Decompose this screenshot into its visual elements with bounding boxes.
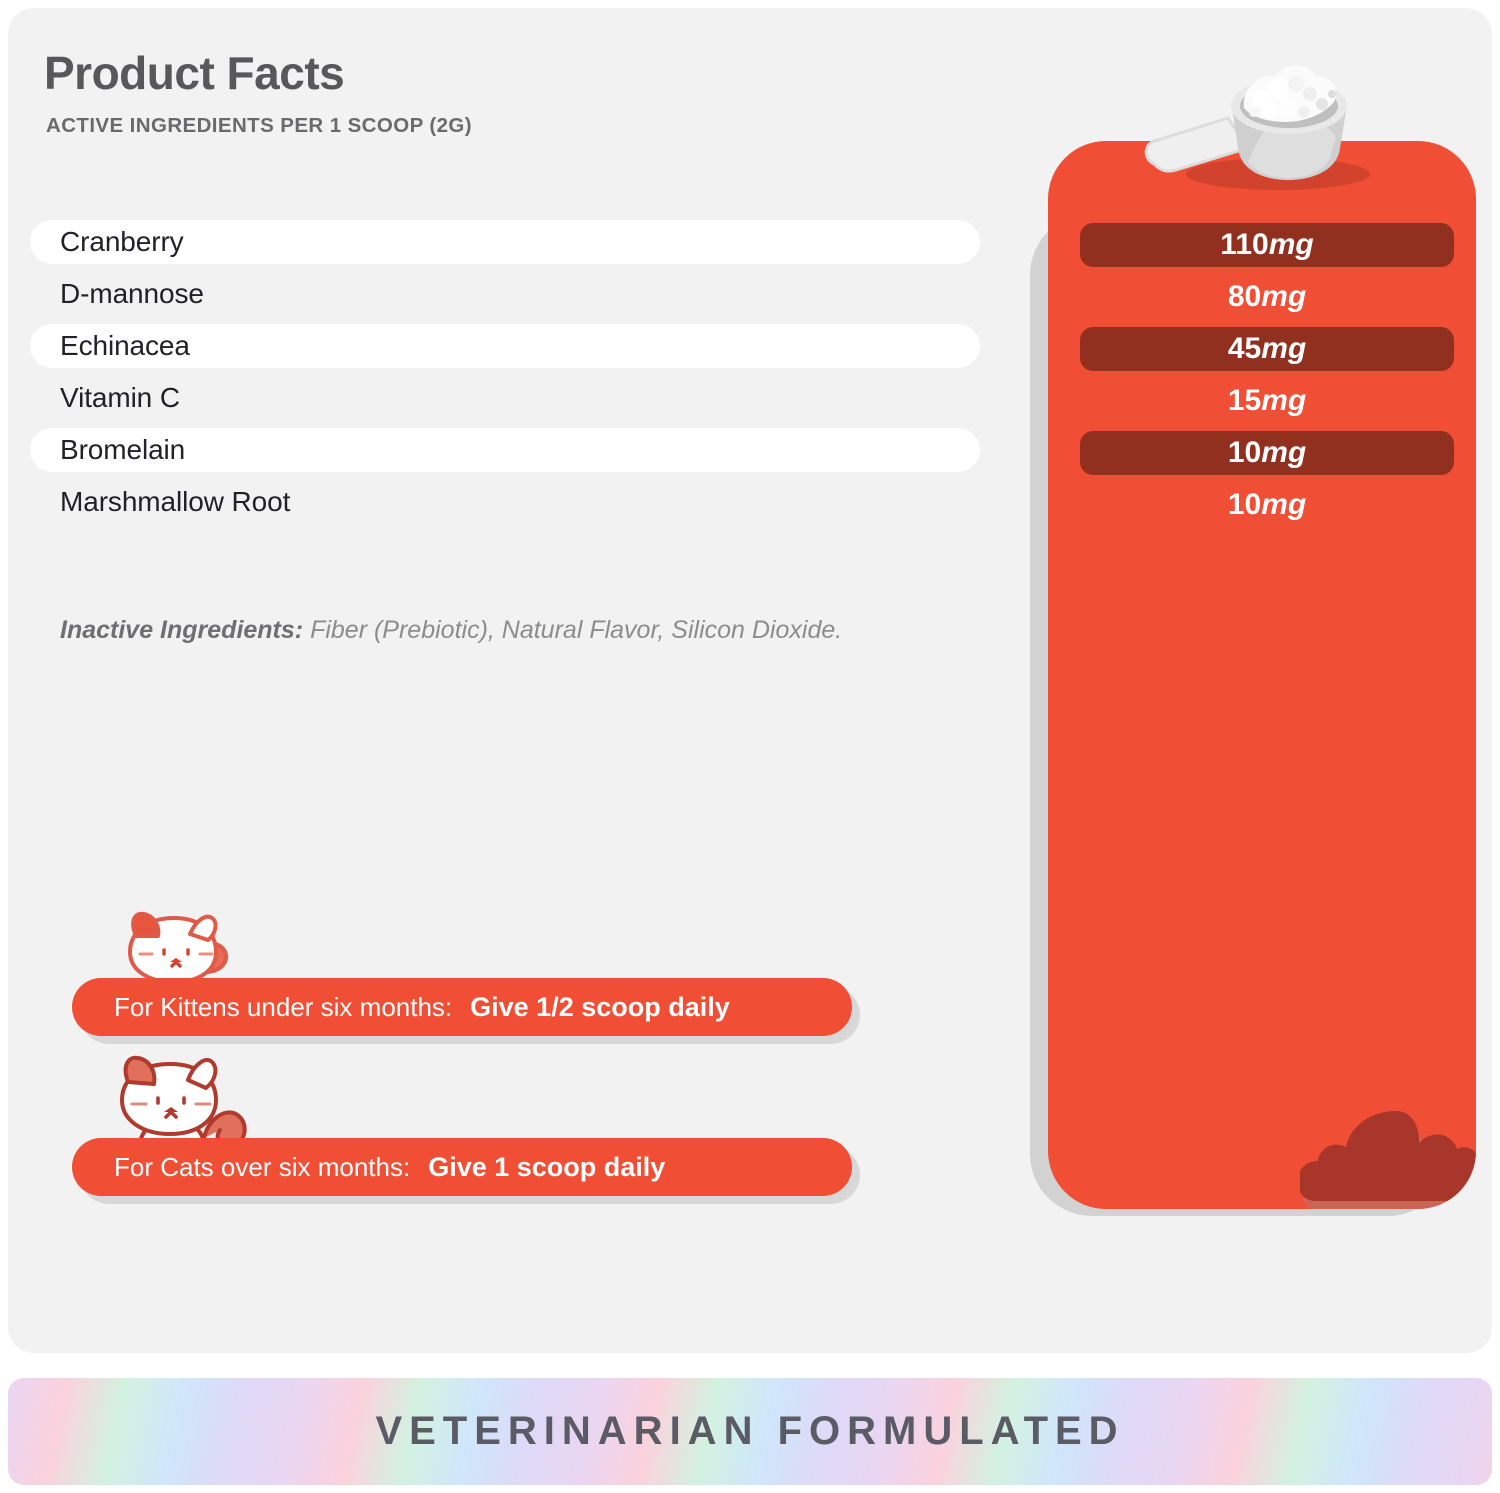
ingredient-name: Cranberry (60, 226, 184, 258)
inactive-ingredients-text: Fiber (Prebiotic), Natural Flavor, Silic… (303, 616, 842, 644)
dosage-unit: mg (1261, 280, 1306, 314)
dosage-unit: mg (1261, 384, 1306, 418)
ingredient-name: Echinacea (60, 330, 190, 362)
dosage-row: 80mg (1080, 275, 1454, 319)
footer-banner: VETERINARIAN FORMULATED (8, 1378, 1492, 1485)
ingredient-list: Cranberry D-mannose Echinacea Vitamin C … (30, 220, 980, 532)
page-subtitle: ACTIVE INGREDIENTS PER 1 SCOOP (2G) (46, 114, 472, 138)
ingredient-name: Vitamin C (60, 382, 180, 414)
list-item: Bromelain (30, 428, 980, 472)
inactive-ingredients: Inactive Ingredients: Fiber (Prebiotic),… (60, 616, 842, 645)
cat-dose-label: For Cats over six months: (114, 1152, 410, 1183)
dosage-amount: 45 (1228, 332, 1261, 366)
ingredient-name: Bromelain (60, 434, 185, 466)
kitten-dose-pill: For Kittens under six months: Give 1/2 s… (72, 978, 852, 1036)
kitten-dose-label: For Kittens under six months: (114, 992, 452, 1023)
bush-icon (1300, 1105, 1476, 1209)
dosage-amount: 110 (1220, 228, 1268, 262)
dosage-row: 110mg (1080, 223, 1454, 267)
dosage-row: 45mg (1080, 327, 1454, 371)
cat-dose-instruction: Give 1 scoop daily (428, 1152, 665, 1183)
dosage-list: 110mg 80mg 45mg 15mg 10mg 10mg (1080, 223, 1454, 535)
dosage-panel: 110mg 80mg 45mg 15mg 10mg 10mg (1048, 141, 1476, 1209)
inactive-ingredients-label: Inactive Ingredients: (60, 616, 303, 644)
dosage-row: 15mg (1080, 379, 1454, 423)
ingredient-name: Marshmallow Root (60, 486, 290, 518)
kitten-dose-instruction: Give 1/2 scoop daily (470, 992, 730, 1023)
dosage-amount: 80 (1228, 280, 1261, 314)
dosage-row: 10mg (1080, 483, 1454, 527)
dosage-unit: mg (1261, 332, 1306, 366)
dosage-unit: mg (1261, 488, 1306, 522)
list-item: Cranberry (30, 220, 980, 264)
dosage-amount: 15 (1228, 384, 1261, 418)
list-item: D-mannose (30, 272, 980, 316)
footer-text: VETERINARIAN FORMULATED (8, 1378, 1492, 1485)
dosage-row: 10mg (1080, 431, 1454, 475)
list-item: Echinacea (30, 324, 980, 368)
dosage-amount: 10 (1228, 436, 1261, 470)
dosage-unit: mg (1261, 436, 1306, 470)
list-item: Marshmallow Root (30, 480, 980, 524)
list-item: Vitamin C (30, 376, 980, 420)
dosage-unit: mg (1269, 228, 1314, 262)
page-title: Product Facts (44, 46, 344, 100)
dosage-amount: 10 (1228, 488, 1261, 522)
measuring-scoop-icon (1136, 22, 1386, 197)
product-facts-card: Product Facts ACTIVE INGREDIENTS PER 1 S… (8, 8, 1492, 1353)
cat-dose-pill: For Cats over six months: Give 1 scoop d… (72, 1138, 852, 1196)
ingredient-name: D-mannose (60, 278, 204, 310)
